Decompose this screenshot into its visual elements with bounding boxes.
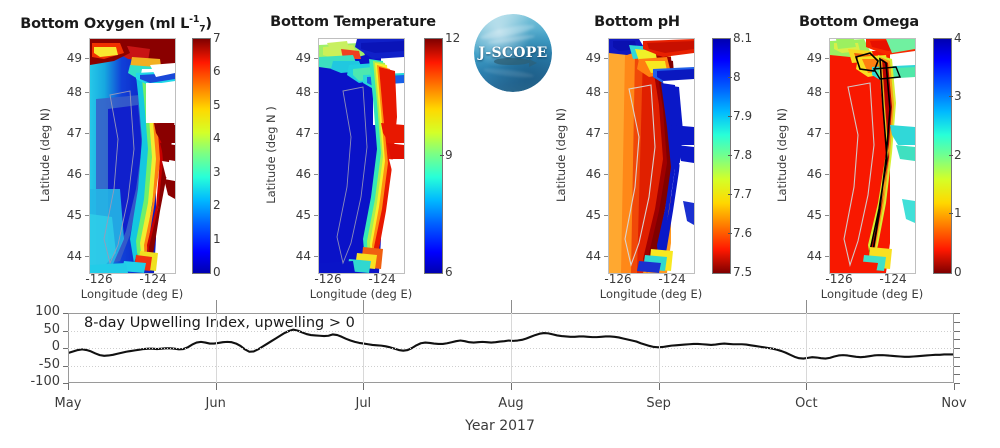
tick-oxygen (85, 133, 89, 134)
timeseries-ytick-mark (63, 331, 68, 332)
tick-oxygen (85, 256, 89, 257)
panel-title-temperature: Bottom Temperature (242, 14, 464, 30)
timeseries-xtick-mark (806, 383, 807, 390)
cbtick-omega: 3 (954, 89, 962, 103)
map-temperature[interactable] (318, 38, 405, 274)
panel-title-oxygen: Bottom Oxygen (ml L-17) (0, 14, 240, 35)
colorbar-temperature (424, 38, 443, 274)
timeseries-ytick: 100 (2, 304, 60, 319)
cbtick-ph: 8.1 (733, 31, 752, 45)
cbdash-ph (728, 77, 732, 78)
cbdash-omega (949, 96, 953, 97)
timeseries-month-marker (363, 300, 364, 313)
timeseries-ytick: 0 (2, 339, 60, 354)
timeseries-ytick-mark (63, 313, 68, 314)
timeseries-title: 8-day Upwelling Index, upwelling > 0 (84, 315, 355, 331)
tick-ph (604, 58, 608, 59)
timeseries-xtick: Jun (186, 396, 246, 411)
ytick-oxygen: 46 (34, 167, 82, 181)
tick-omega (825, 215, 829, 216)
title-tail: ) (205, 16, 211, 32)
xtick-oxygen: -126 (77, 272, 121, 286)
tick-temperature (314, 174, 318, 175)
tick-ph (604, 215, 608, 216)
cbtick-ph: 8 (733, 70, 741, 84)
cbtick-oxygen: 5 (213, 98, 221, 112)
tick-omega (825, 133, 829, 134)
timeseries-xtick-mark (216, 383, 217, 390)
ytick-temperature: 48 (263, 85, 311, 99)
colorbar-temperature-gradient (425, 39, 442, 273)
cbtick-omega: 1 (954, 206, 962, 220)
timeseries-xtick-mark (363, 383, 364, 390)
timeseries-xtick-mark (659, 383, 660, 390)
ytick-ph: 44 (553, 249, 601, 263)
tick-omega (825, 256, 829, 257)
ytick-temperature: 45 (263, 208, 311, 222)
ytick-oxygen: 47 (34, 126, 82, 140)
jscope-label: J-SCOPE (474, 45, 552, 61)
cbtick-oxygen: 2 (213, 198, 221, 212)
tick-temperature (314, 256, 318, 257)
timeseries-minor-tick-right (954, 322, 960, 323)
cbtick-temperature: 9 (445, 148, 453, 162)
xtick-ph: -126 (596, 272, 640, 286)
timeseries-xtick: May (38, 396, 98, 411)
cbtick-temperature: 12 (445, 31, 460, 45)
ytick-omega: 49 (774, 51, 822, 65)
ytick-ph: 48 (553, 85, 601, 99)
tick-temperature (314, 133, 318, 134)
colorbar-oxygen (192, 38, 211, 274)
tick-omega (825, 92, 829, 93)
map-temperature-raster (319, 39, 404, 273)
timeseries-ytick-mark-right (954, 348, 960, 349)
tick-oxygen (85, 215, 89, 216)
tick-temperature (314, 215, 318, 216)
timeseries-gridline-v (216, 313, 217, 383)
colorbar-omega-gradient (934, 39, 951, 273)
ylabel-temperature: Latitude (deg N ) (264, 100, 278, 210)
timeseries-ytick: -50 (2, 357, 60, 372)
timeseries-ytick: 50 (2, 322, 60, 337)
upwelling-timeseries: 8-day Upwelling Index, upwelling > 0 Yea… (0, 300, 1000, 448)
ytick-temperature: 46 (263, 167, 311, 181)
cbtick-omega: 4 (954, 31, 962, 45)
ytick-ph: 47 (553, 126, 601, 140)
map-oxygen[interactable] (89, 38, 176, 274)
ylabel-omega: Latitude (deg N) (775, 100, 789, 210)
tick-ph (604, 133, 608, 134)
cbdash-temperature (440, 155, 444, 156)
ylabel-oxygen: Latitude (deg N) (38, 100, 52, 210)
tick-ph (604, 256, 608, 257)
ytick-oxygen: 45 (34, 208, 82, 222)
tick-oxygen (85, 92, 89, 93)
title-text: Bottom pH (594, 14, 680, 30)
xlabel-oxygen: Longitude (deg E) (52, 287, 212, 301)
cbtick-oxygen: 1 (213, 232, 221, 246)
ytick-oxygen: 44 (34, 249, 82, 263)
xtick-oxygen: -124 (131, 272, 175, 286)
tick-ph (604, 174, 608, 175)
map-ph-raster (609, 39, 694, 273)
cbtick-ph: 7.7 (733, 187, 752, 201)
tick-omega (825, 58, 829, 59)
cbtick-oxygen: 4 (213, 131, 221, 145)
timeseries-month-marker (216, 300, 217, 313)
timeseries-ytick-mark-right (954, 313, 960, 314)
cbtick-ph: 7.5 (733, 265, 752, 279)
xlabel-ph: Longitude (deg E) (571, 287, 731, 301)
tick-temperature (314, 92, 318, 93)
cbtick-ph: 7.8 (733, 148, 752, 162)
title-text: Bottom Omega (799, 14, 919, 30)
panel-title-omega: Bottom Omega (746, 14, 972, 30)
cbdash-omega (949, 155, 953, 156)
ytick-omega: 45 (774, 208, 822, 222)
title-text: Bottom Temperature (270, 14, 436, 30)
tick-temperature (314, 58, 318, 59)
cbtick-omega: 2 (954, 148, 962, 162)
cbtick-ph: 7.9 (733, 109, 752, 123)
timeseries-minor-tick-right (954, 339, 960, 340)
timeseries-gridline-v (363, 313, 364, 383)
timeseries-xtick: Oct (776, 396, 836, 411)
cbtick-temperature: 6 (445, 265, 453, 279)
timeseries-xlabel: Year 2017 (0, 418, 1000, 434)
ytick-omega: 44 (774, 249, 822, 263)
xlabel-omega: Longitude (deg E) (792, 287, 952, 301)
panel-bottom-temperature: Bottom Temperature (248, 0, 470, 300)
colorbar-oxygen-gradient (193, 39, 210, 273)
tick-omega (825, 174, 829, 175)
map-ph[interactable] (608, 38, 695, 274)
map-oxygen-raster (90, 39, 175, 273)
timeseries-xtick: Jul (333, 396, 393, 411)
colorbar-ph-gradient (713, 39, 730, 273)
cbtick-omega: 0 (954, 265, 962, 279)
cbdash-ph (728, 116, 732, 117)
timeseries-ytick-mark-right (954, 331, 960, 332)
timeseries-ytick-mark-right (954, 366, 960, 367)
colorbar-ph (712, 38, 731, 274)
cbtick-oxygen: 0 (213, 265, 221, 279)
ytick-temperature: 47 (263, 126, 311, 140)
timeseries-xtick-mark (68, 383, 69, 390)
title-text: Bottom Oxygen (ml L (20, 16, 189, 32)
ytick-oxygen: 48 (34, 85, 82, 99)
cbdash-ph (728, 155, 732, 156)
xlabel-temperature: Longitude (deg E) (281, 287, 441, 301)
ytick-temperature: 44 (263, 249, 311, 263)
ytick-ph: 49 (553, 51, 601, 65)
timeseries-xtick: Aug (481, 396, 541, 411)
colorbar-omega (933, 38, 952, 274)
timeseries-month-marker (511, 300, 512, 313)
timeseries-month-marker (806, 300, 807, 313)
ytick-omega: 46 (774, 167, 822, 181)
timeseries-month-marker (659, 300, 660, 313)
xtick-temperature: -126 (306, 272, 350, 286)
xtick-temperature: -124 (360, 272, 404, 286)
timeseries-ytick-mark (63, 348, 68, 349)
cbtick-oxygen: 6 (213, 64, 221, 78)
timeseries-xtick-mark (954, 383, 955, 390)
timeseries-gridline-v (806, 313, 807, 383)
cbdash-ph (728, 233, 732, 234)
timeseries-gridline-v (511, 313, 512, 383)
cbdash-ph (728, 194, 732, 195)
panel-title-ph: Bottom pH (528, 14, 746, 30)
panel-bottom-omega: Bottom Omega (774, 0, 1000, 300)
timeseries-minor-tick-right (954, 374, 960, 375)
ytick-ph: 45 (553, 208, 601, 222)
cbdash-omega (949, 213, 953, 214)
ytick-ph: 46 (553, 167, 601, 181)
ylabel-ph: Latitude (deg N) (554, 100, 568, 210)
xtick-omega: -126 (817, 272, 861, 286)
timeseries-gridline-v (659, 313, 660, 383)
ytick-oxygen: 49 (34, 51, 82, 65)
title-superscript: -1 (189, 14, 199, 25)
timeseries-xtick-mark (511, 383, 512, 390)
timeseries-ytick-mark (63, 366, 68, 367)
tick-oxygen (85, 174, 89, 175)
timeseries-xtick: Nov (924, 396, 984, 411)
xtick-omega: -124 (871, 272, 915, 286)
panel-bottom-oxygen: Bottom Oxygen (ml L-17) (0, 0, 248, 300)
map-omega-raster (830, 39, 915, 273)
cbtick-oxygen: 7 (213, 31, 221, 45)
ytick-omega: 47 (774, 126, 822, 140)
ytick-omega: 48 (774, 85, 822, 99)
cbtick-ph: 7.6 (733, 226, 752, 240)
map-omega[interactable] (829, 38, 916, 274)
ytick-temperature: 49 (263, 51, 311, 65)
xtick-ph: -124 (650, 272, 694, 286)
panel-bottom-ph: Bottom pH (556, 0, 774, 300)
tick-oxygen (85, 58, 89, 59)
timeseries-xtick: Sep (629, 396, 689, 411)
cbtick-oxygen: 3 (213, 165, 221, 179)
tick-ph (604, 92, 608, 93)
timeseries-ytick: -100 (2, 374, 60, 389)
timeseries-minor-tick-right (954, 357, 960, 358)
